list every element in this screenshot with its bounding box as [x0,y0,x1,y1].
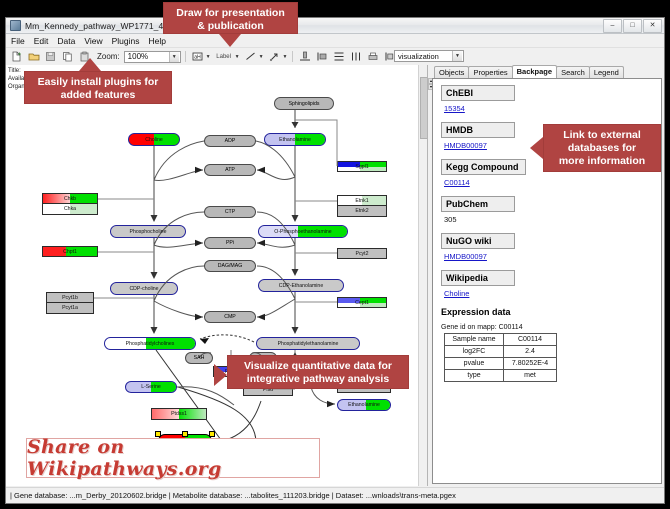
callout-link-arrow [530,137,543,159]
menu-help[interactable]: Help [148,36,167,46]
zoom-value: 100% [128,52,148,61]
db-header-wikipedia: Wikipedia [441,270,515,286]
node-label: Phosphatidylethanolamine [278,341,339,347]
chevron-down-icon[interactable]: ▼ [206,54,211,60]
title-bar: Mm_Kennedy_pathway_WP1771_45176.gpml – □… [6,18,664,34]
node-label: Chkb [64,196,76,202]
node-label: Sphingolipids [289,101,320,107]
chevron-down-icon[interactable]: ▼ [235,54,240,60]
db-header-kegg-compound: Kegg Compound [441,159,526,175]
callout-plugins-arrow [79,58,101,71]
row-key: Sample name [445,334,504,346]
table-row: type met [445,370,557,382]
expression-data-title: Expression data [441,307,653,317]
node-label: L-Serine [141,384,161,390]
pathway-canvas[interactable]: Title: Availa Organi [6,65,428,486]
line-icon[interactable] [243,49,258,64]
node-label: PPi [226,240,234,246]
node-label: Chpt1 [63,249,77,255]
node-label: O-Phosphoethanolamine [274,229,331,235]
status-text: | Gene database: ...m_Derby_20120602.bri… [10,491,456,500]
chevron-down-icon[interactable]: ▼ [452,51,462,61]
chevron-down-icon[interactable]: ▼ [259,54,264,60]
callout-plugins: Easily install plugins for added feature… [24,71,172,104]
chevron-down-icon[interactable]: ▼ [169,52,179,62]
db-link-chebi[interactable]: 15354 [444,104,653,113]
minimize-button[interactable]: – [603,19,622,33]
row-value: 7.80252E-4 [504,358,557,370]
table-row: log2FC 2.4 [445,346,557,358]
node-label: Ethanolamine [348,402,380,408]
callout-link-line2: databases for [551,142,653,155]
maximize-button[interactable]: □ [623,19,642,33]
expression-table: Sample name C00114 log2FC 2.4 pvalue 7.8… [444,333,557,382]
callout-visualize-line1: Visualize quantitative data for [235,360,401,373]
toolbar-separator [292,51,293,62]
callout-draw-arrow [219,34,241,47]
callout-plugins-line2: added features [32,89,164,102]
tool-bar: Zoom: 100% ▼ aH ▼ Label ▼ ▼ ▼ [6,48,664,66]
tab-objects[interactable]: Objects [434,66,469,78]
node-label: Pcyt2 [356,251,369,257]
db-link-nugo-wiki[interactable]: HMDB00097 [444,252,653,261]
gene-ptdss1[interactable]: Ptdss1 [151,408,207,420]
node-label: Cept1 [355,300,369,306]
share-banner-text: Share on Wikipathways.org [27,436,319,480]
callout-visualize-line2: integrative pathway analysis [235,373,401,386]
callout-link-databases: Link to external databases for more info… [543,124,661,172]
node-label: Ptdss1 [171,411,187,417]
side-panel-tabs: Objects Properties Backpage Search Legen… [428,65,664,78]
menu-bar: File Edit Data View Plugins Help [6,34,664,48]
table-row: Sample name C00114 [445,334,557,346]
db-header-nugo-wiki: NuGO wiki [441,233,515,249]
close-button[interactable]: ✕ [643,19,662,33]
node-label: Sgpl1 [355,164,368,170]
node-label: Etnk2 [355,208,368,214]
node-label: DAG/MAG [218,263,243,269]
node-label: Ethanolamine [279,137,311,143]
tab-backpage[interactable]: Backpage [512,65,557,78]
align-left-icon[interactable] [314,49,329,64]
svg-text:aH: aH [194,55,201,61]
menu-view[interactable]: View [83,36,103,46]
tab-search[interactable]: Search [556,66,590,78]
db-header-pubchem: PubChem [441,196,515,212]
table-row: pvalue 7.80252E-4 [445,358,557,370]
callout-visualize: Visualize quantitative data for integrat… [227,355,409,389]
node-label: ATP [225,167,235,173]
save-icon[interactable] [43,49,58,64]
visualization-value: visualization [398,52,439,61]
tab-legend[interactable]: Legend [589,66,624,78]
node-label: Etnk1 [355,198,368,204]
menu-data[interactable]: Data [56,36,76,46]
text-label-icon[interactable]: aH [190,49,205,64]
menu-file[interactable]: File [10,36,26,46]
db-value-pubchem: 305 [444,215,653,224]
node-label: CDP-Ethanolamine [279,283,323,289]
share-banner: Share on Wikipathways.org [26,438,320,478]
db-link-kegg-compound[interactable]: C00114 [444,178,653,187]
node-label: Pcyt1b [62,295,78,301]
callout-visualize-arrow [214,364,227,386]
menu-plugins[interactable]: Plugins [111,36,141,46]
callout-draw: Draw for presentation & publication [163,2,298,34]
callout-draw-line1: Draw for presentation [171,7,290,20]
gene-chkb[interactable]: Chkb [42,193,98,204]
callout-link-line3: more information [551,155,653,168]
pathway-edges [6,65,427,486]
node-label: CDP-choline [129,286,158,292]
db-header-chebi: ChEBI [441,85,515,101]
copy-icon[interactable] [60,49,75,64]
row-value: C00114 [504,334,557,346]
chevron-down-icon[interactable]: ▼ [283,54,288,60]
align-bottom-icon[interactable] [297,49,312,64]
db-header-hmdb: HMDB [441,122,515,138]
row-value: 2.4 [504,346,557,358]
row-key: pvalue [445,358,504,370]
window-controls: – □ ✕ [603,19,662,33]
status-bar: | Gene database: ...m_Derby_20120602.bri… [6,487,664,503]
row-value: met [504,370,557,382]
zoom-combo[interactable]: 100% ▼ [124,51,181,63]
arrow-shape-icon[interactable] [267,49,282,64]
distribute-horizontal-icon[interactable] [331,49,346,64]
node-label: Chka [64,206,76,212]
node-label: CTP [225,209,235,215]
visualization-combo[interactable]: visualization ▼ [394,50,464,62]
new-file-icon[interactable] [9,49,24,64]
tab-properties[interactable]: Properties [468,66,512,78]
distribute-vertical-icon[interactable] [348,49,363,64]
db-link-wikipedia[interactable]: Choline [444,289,653,298]
node-label: ADP [225,138,236,144]
toolbar-separator [185,51,186,62]
gene-id-line: Gene id on mapp: C00114 [441,324,653,331]
callout-plugins-line1: Easily install plugins for [32,76,164,89]
callout-draw-line2: & publication [171,20,290,33]
callout-link-line1: Link to external [551,129,653,142]
node-label: CMP [224,314,236,320]
row-key: type [445,370,504,382]
node-label: SAH [194,355,205,361]
menu-edit[interactable]: Edit [33,36,50,46]
open-folder-icon[interactable] [26,49,41,64]
node-label: Choline [145,137,163,143]
print-icon[interactable] [365,49,380,64]
node-label: Pcyt1a [62,305,78,311]
node-label: Phosphatidylcholines [126,341,175,347]
app-icon [10,20,21,31]
row-key: log2FC [445,346,504,358]
label-button[interactable]: Label [214,49,234,64]
node-label: Phosphocholine [130,229,167,235]
